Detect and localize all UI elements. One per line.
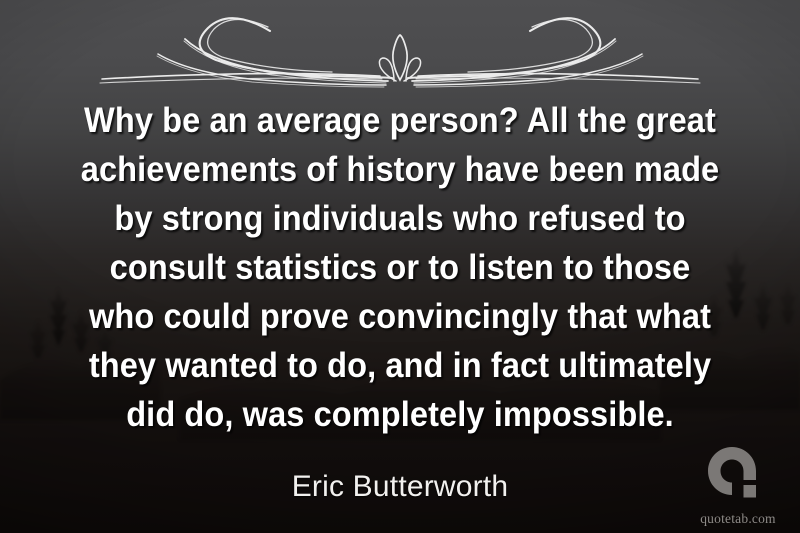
quote-line: achievements of history have been made (28, 145, 772, 194)
quote-line: who could prove convincingly that what (28, 292, 772, 341)
quote-line: Why be an average person? All the great (28, 96, 772, 145)
quote-text: Why be an average person? All the great … (0, 96, 800, 439)
quote-line: by strong individuals who refused to (28, 194, 772, 243)
watermark[interactable]: quotetab.com (684, 447, 792, 529)
quotetab-logo-icon (708, 447, 770, 507)
watermark-site-label: quotetab.com (684, 511, 792, 527)
quote-line: did do, was completely impossible. (28, 390, 772, 439)
quote-line: they wanted to do, and in fact ultimatel… (28, 341, 772, 390)
quote-card: Why be an average person? All the great … (0, 0, 800, 533)
quote-author: Eric Butterworth (0, 470, 800, 504)
decorative-flourish-divider (80, 4, 720, 92)
quote-line: consult statistics or to listen to those (28, 243, 772, 292)
